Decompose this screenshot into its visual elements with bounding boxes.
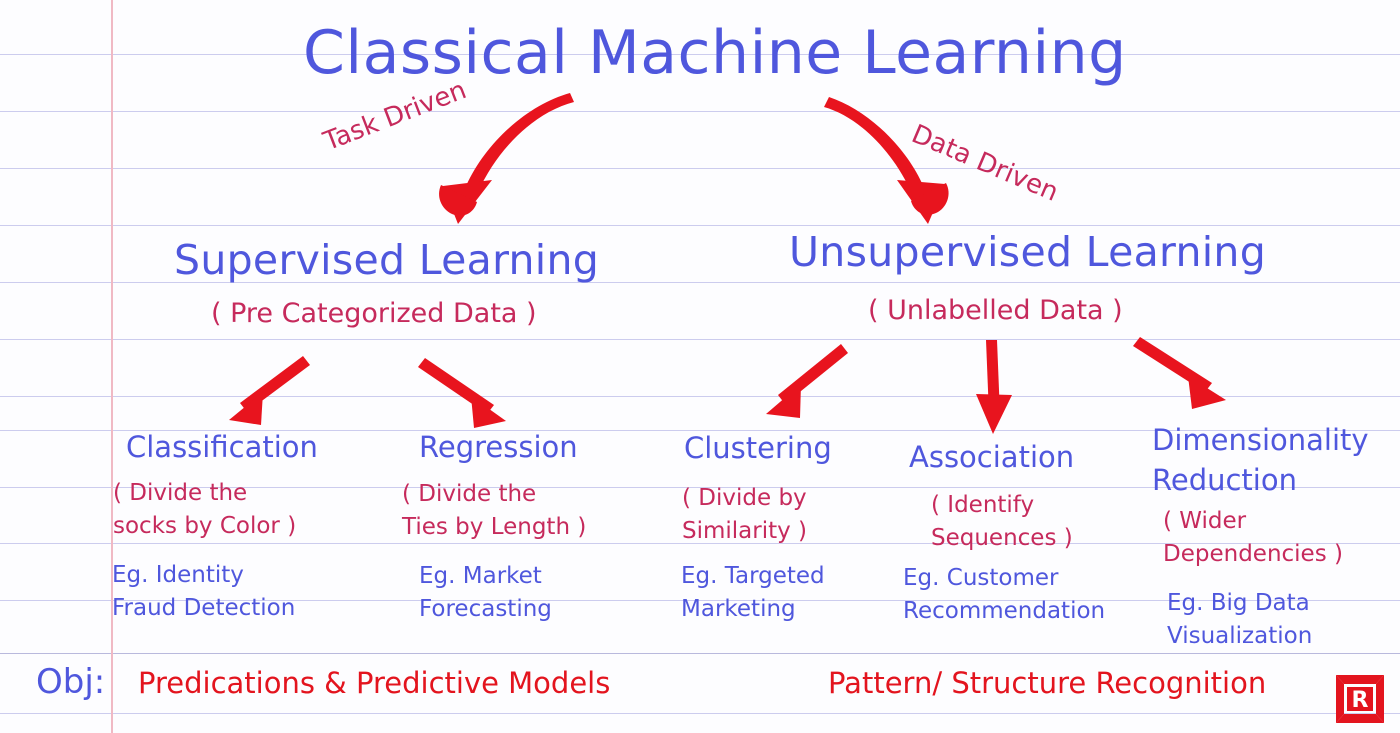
- leaf-dimensionality-note: ( Wider Dependencies ): [1163, 505, 1343, 571]
- arrow-supervised-to-regression-head: [471, 396, 506, 428]
- arrow-title-to-unsupervised-head2: [911, 183, 949, 215]
- objective-unsupervised: Pattern/ Structure Recognition: [828, 666, 1266, 700]
- objective-label: Obj:: [36, 662, 105, 702]
- arrow-supervised-to-regression: [418, 358, 494, 414]
- branch-unsupervised-title: Unsupervised Learning: [789, 228, 1266, 276]
- arrow-title-to-supervised-head: [443, 180, 492, 224]
- leaf-classification-example: Eg. Identity Fraud Detection: [112, 559, 295, 625]
- branch-supervised-title: Supervised Learning: [174, 236, 599, 284]
- arrow-title-to-supervised-head2: [439, 185, 477, 216]
- leaf-dimensionality-title: Dimensionality Reduction: [1152, 420, 1369, 500]
- page-title: Classical Machine Learning: [303, 18, 1127, 88]
- logo-letter: R: [1352, 688, 1369, 713]
- arrow-title-to-unsupervised-head: [897, 180, 945, 224]
- leaf-clustering-example: Eg. Targeted Marketing: [681, 560, 825, 626]
- leaf-association-note: ( Identify Sequences ): [931, 489, 1073, 555]
- notebook-page: Classical Machine Learning Task Driven D…: [0, 0, 1400, 733]
- red-cube-r-logo: R: [1334, 673, 1386, 725]
- arrow-unsupervised-to-clustering: [778, 344, 848, 404]
- leaf-clustering-title: Clustering: [684, 431, 832, 465]
- branch-unsupervised-subtitle: ( Unlabelled Data ): [868, 295, 1123, 326]
- edge-label-data-driven: Data Driven: [907, 119, 1062, 208]
- leaf-regression-title: Regression: [419, 430, 578, 464]
- leaf-regression-note: ( Divide the Ties by Length ): [402, 478, 586, 544]
- leaf-association-title: Association: [909, 440, 1074, 474]
- arrow-unsupervised-to-clustering-head: [766, 384, 801, 418]
- arrow-supervised-to-classification-head: [229, 392, 263, 425]
- leaf-dimensionality-example: Eg. Big Data Visualization: [1167, 587, 1312, 653]
- objective-supervised: Predications & Predictive Models: [138, 666, 610, 700]
- arrow-title-to-supervised: [466, 93, 574, 192]
- leaf-classification-title: Classification: [126, 430, 318, 464]
- arrow-unsupervised-to-dimensionality: [1133, 337, 1212, 392]
- arrow-unsupervised-to-association-head: [976, 394, 1012, 434]
- leaf-classification-note: ( Divide the socks by Color ): [113, 477, 296, 543]
- arrow-supervised-to-classification: [240, 356, 310, 412]
- leaf-regression-example: Eg. Market Forecasting: [419, 560, 552, 626]
- arrow-unsupervised-to-association: [986, 340, 1000, 415]
- leaf-clustering-note: ( Divide by Similarity ): [682, 482, 807, 548]
- leaf-association-example: Eg. Customer Recommendation: [903, 562, 1105, 628]
- arrow-unsupervised-to-dimensionality-head: [1188, 376, 1226, 409]
- branch-supervised-subtitle: ( Pre Categorized Data ): [211, 298, 537, 329]
